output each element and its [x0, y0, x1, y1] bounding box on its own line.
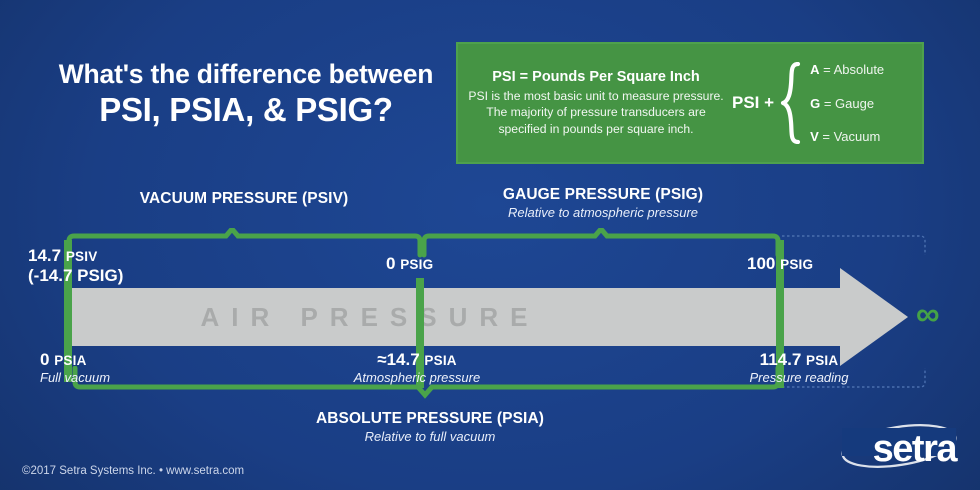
label-hundred-psig: 100 PSIG: [747, 254, 813, 274]
label-zero-psia: 0 PSIA Full vacuum: [40, 350, 110, 385]
psi-variant-label-v: = Vacuum: [822, 129, 880, 144]
label-vacuum-max-number: 14.7: [28, 246, 61, 265]
psi-variant-letter-a: A: [810, 62, 819, 77]
setra-logo-text: setra: [873, 430, 956, 468]
infinity-icon: ∞: [916, 297, 940, 330]
page-title: What's the difference between PSI, PSIA,…: [36, 60, 456, 129]
psi-variant-label-a: = Absolute: [823, 62, 884, 77]
psi-variants-list: A = Absolute G = Gauge V = Vacuum: [810, 62, 884, 144]
label-zero-psia-unit: PSIA: [54, 353, 86, 368]
psi-definition-title: PSI = Pounds Per Square Inch: [468, 69, 724, 85]
section-subtitle-absolute: Relative to full vacuum: [75, 429, 785, 444]
label-hundred-psig-unit: PSIG: [780, 257, 813, 272]
section-title-absolute: ABSOLUTE PRESSURE (PSIA): [75, 410, 785, 428]
label-atmospheric-unit: PSIA: [424, 353, 456, 368]
infographic-canvas: What's the difference between PSI, PSIA,…: [0, 0, 980, 490]
headline-line-1: What's the difference between: [36, 60, 456, 90]
psi-definition-body: PSI is the most basic unit to measure pr…: [468, 88, 724, 136]
psi-formula-prefix: PSI +: [732, 93, 774, 113]
section-title-gauge: GAUGE PRESSURE (PSIG): [423, 186, 783, 204]
psi-variant-label-g: = Gauge: [824, 96, 874, 111]
headline-line-2: PSI, PSIA, & PSIG?: [36, 92, 456, 129]
section-heading-absolute: ABSOLUTE PRESSURE (PSIA) Relative to ful…: [75, 410, 785, 444]
psi-variant-gauge: G = Gauge: [810, 97, 884, 110]
section-title-vacuum: VACUUM PRESSURE (PSIV): [68, 190, 420, 208]
air-pressure-bar: AIR PRESSURE: [64, 288, 840, 346]
label-vacuum-max-psig: (-14.7 PSIG): [28, 266, 123, 286]
label-pressure-reading-unit: PSIA: [806, 353, 838, 368]
section-subtitle-gauge: Relative to atmospheric pressure: [423, 205, 783, 220]
psi-variant-vacuum: V = Vacuum: [810, 130, 884, 143]
section-heading-gauge: GAUGE PRESSURE (PSIG) Relative to atmosp…: [423, 186, 783, 220]
section-heading-vacuum: VACUUM PRESSURE (PSIV): [68, 190, 420, 208]
label-zero-psig: 0 PSIG: [386, 254, 433, 274]
psi-definition-box: PSI = Pounds Per Square Inch PSI is the …: [456, 42, 924, 164]
copyright-footer: ©2017 Setra Systems Inc. • www.setra.com: [22, 465, 244, 477]
label-atmospheric-psia: ≈14.7 PSIA Atmospheric pressure: [342, 350, 492, 385]
label-zero-psia-number: 0: [40, 350, 49, 369]
label-vacuum-max: 14.7 PSIV (-14.7 PSIG): [28, 246, 123, 286]
label-zero-psig-unit: PSIG: [400, 257, 433, 272]
label-vacuum-max-value: 14.7 PSIV: [28, 246, 123, 266]
psi-variant-letter-g: G: [810, 96, 820, 111]
curly-brace-icon: [780, 62, 802, 144]
label-zero-psig-number: 0: [386, 254, 395, 273]
psi-definition-text: PSI = Pounds Per Square Inch PSI is the …: [458, 69, 730, 136]
label-pressure-reading-sub: Pressure reading: [729, 370, 869, 385]
psi-formula: PSI + A = Absolute G = Gauge V = Vacuum: [730, 62, 922, 144]
label-atmospheric-sub: Atmospheric pressure: [342, 370, 492, 385]
label-zero-psia-sub: Full vacuum: [40, 370, 110, 385]
label-pressure-reading-psia: 114.7 PSIA Pressure reading: [729, 350, 869, 385]
air-pressure-bar-label: AIR PRESSURE: [64, 288, 664, 346]
psi-variant-absolute: A = Absolute: [810, 63, 884, 76]
label-atmospheric-number: ≈14.7: [377, 350, 419, 369]
label-hundred-psig-number: 100: [747, 254, 775, 273]
label-pressure-reading-number: 114.7: [760, 350, 802, 369]
label-vacuum-max-unit: PSIV: [66, 249, 98, 264]
psi-variant-letter-v: V: [810, 129, 819, 144]
bracket-vacuum-and-gauge: [0, 228, 980, 258]
